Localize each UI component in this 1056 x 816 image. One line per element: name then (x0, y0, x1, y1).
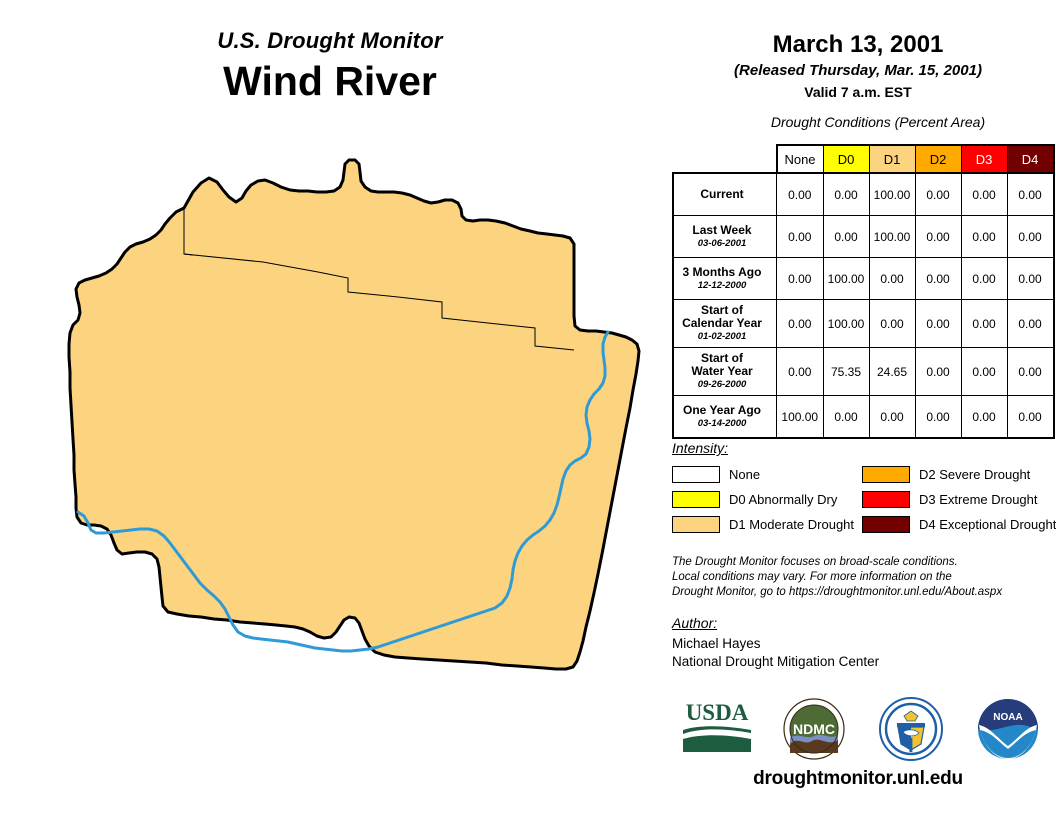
table-cell-d1: 100.00 (869, 216, 915, 258)
legend-grid: NoneD2 Severe DroughtD0 Abnormally DryD3… (672, 462, 1056, 537)
table-cell-d3: 0.00 (961, 173, 1007, 216)
table-col-header-d0: D0 (823, 145, 869, 173)
table-cell-d2: 0.00 (915, 348, 961, 396)
map-title-block: U.S. Drought Monitor Wind River (0, 28, 660, 106)
table-cell-d2: 0.00 (915, 216, 961, 258)
table-cell-d1: 0.00 (869, 258, 915, 300)
disclaimer-text: The Drought Monitor focuses on broad-sca… (672, 555, 1052, 600)
legend-item: D4 Exceptional Drought (862, 512, 1056, 537)
row-title-line: One Year Ago (674, 404, 770, 417)
row-title-line: Current (674, 188, 770, 201)
page-title: Wind River (0, 56, 660, 106)
usda-logo[interactable]: USDA (677, 694, 757, 764)
legend-swatch (672, 491, 720, 508)
info-panel: March 13, 2001 (Released Thursday, Mar. … (660, 0, 1056, 816)
table-row: 3 Months Ago12-12-20000.00100.000.000.00… (673, 258, 1054, 300)
row-date: 03-14-2000 (674, 417, 770, 430)
row-title-line: Water Year (674, 365, 770, 378)
legend-swatch (862, 491, 910, 508)
table-cell-none: 0.00 (777, 258, 824, 300)
row-title-line: 3 Months Ago (674, 266, 770, 279)
drought-conditions-table: NoneD0D1D2D3D4 Current0.000.00100.000.00… (672, 144, 1055, 439)
table-cell-d1: 24.65 (869, 348, 915, 396)
table-col-header-d1: D1 (869, 145, 915, 173)
table-cell-d1: 0.00 (869, 396, 915, 439)
table-cell-d0: 100.00 (823, 258, 869, 300)
table-col-header-d4: D4 (1007, 145, 1054, 173)
row-label: Last Week03-06-2001 (673, 216, 777, 258)
table-corner-cell (673, 145, 777, 173)
author-affiliation: National Drought Mitigation Center (672, 653, 1052, 671)
table-body: Current0.000.00100.000.000.000.00Last We… (673, 173, 1054, 438)
logo-row: USDA NDMC (668, 694, 1056, 764)
row-label: 3 Months Ago12-12-2000 (673, 258, 777, 300)
table-cell-d3: 0.00 (961, 216, 1007, 258)
row-date: 01-02-2001 (674, 330, 770, 343)
legend-label: D0 Abnormally Dry (729, 492, 837, 507)
disclaimer-line-1: The Drought Monitor focuses on broad-sca… (672, 555, 1052, 570)
author-section: Author: Michael Hayes National Drought M… (672, 615, 1052, 671)
author-heading: Author: (672, 615, 1052, 631)
drought-map[interactable] (18, 150, 658, 770)
date-block: March 13, 2001 (Released Thursday, Mar. … (660, 0, 1056, 102)
author-name: Michael Hayes (672, 635, 1052, 653)
svg-text:NDMC: NDMC (793, 721, 835, 737)
table-cell-d0: 0.00 (823, 216, 869, 258)
legend-label: None (729, 467, 760, 482)
table-cell-none: 0.00 (777, 348, 824, 396)
legend-item: None (672, 462, 862, 487)
table-row: Start ofWater Year09-26-20000.0075.3524.… (673, 348, 1054, 396)
legend-item: D0 Abnormally Dry (672, 487, 862, 512)
legend-swatch (672, 466, 720, 483)
table-cell-d4: 0.00 (1007, 258, 1054, 300)
disclaimer-line-2: Local conditions may vary. For more info… (672, 570, 1052, 585)
issue-date: March 13, 2001 (660, 31, 1056, 59)
table-cell-d2: 0.00 (915, 173, 961, 216)
row-title-line: Calendar Year (674, 317, 770, 330)
table-caption: Drought Conditions (Percent Area) (700, 114, 1056, 130)
map-region-polygon (69, 160, 639, 669)
table-cell-none: 0.00 (777, 173, 824, 216)
table-row: Current0.000.00100.000.000.000.00 (673, 173, 1054, 216)
legend-item: D2 Severe Drought (862, 462, 1056, 487)
legend-swatch (672, 516, 720, 533)
table-cell-d2: 0.00 (915, 300, 961, 348)
table-cell-none: 0.00 (777, 300, 824, 348)
table-cell-d4: 0.00 (1007, 216, 1054, 258)
table-cell-none: 0.00 (777, 216, 824, 258)
legend-item: D3 Extreme Drought (862, 487, 1056, 512)
drought-monitor-supertitle: U.S. Drought Monitor (0, 28, 660, 54)
legend-label: D3 Extreme Drought (919, 492, 1038, 507)
table-cell-d4: 0.00 (1007, 173, 1054, 216)
table-header-row: NoneD0D1D2D3D4 (673, 145, 1054, 173)
legend-swatch (862, 466, 910, 483)
noaa-logo[interactable]: NOAA (968, 694, 1048, 764)
table-cell-none: 100.00 (777, 396, 824, 439)
row-date: 09-26-2000 (674, 378, 770, 391)
table-cell-d0: 0.00 (823, 173, 869, 216)
ndmc-logo[interactable]: NDMC (774, 694, 854, 764)
table-cell-d3: 0.00 (961, 300, 1007, 348)
row-date: 03-06-2001 (674, 237, 770, 250)
table-cell-d1: 0.00 (869, 300, 915, 348)
table-cell-d0: 100.00 (823, 300, 869, 348)
table-cell-d3: 0.00 (961, 348, 1007, 396)
legend-label: D1 Moderate Drought (729, 517, 854, 532)
legend-label: D2 Severe Drought (919, 467, 1030, 482)
valid-time: Valid 7 a.m. EST (660, 83, 1056, 102)
table-cell-d3: 0.00 (961, 258, 1007, 300)
table-row: Last Week03-06-20010.000.00100.000.000.0… (673, 216, 1054, 258)
svg-text:NOAA: NOAA (993, 712, 1022, 723)
table-cell-d3: 0.00 (961, 396, 1007, 439)
table-cell-d4: 0.00 (1007, 300, 1054, 348)
row-label: Current (673, 173, 777, 216)
release-date: (Released Thursday, Mar. 15, 2001) (660, 61, 1056, 81)
table-col-header-none: None (777, 145, 824, 173)
row-title-line: Last Week (674, 224, 770, 237)
row-label: One Year Ago03-14-2000 (673, 396, 777, 439)
table-cell-d4: 0.00 (1007, 348, 1054, 396)
intensity-legend: Intensity: NoneD2 Severe DroughtD0 Abnor… (672, 440, 1056, 537)
table-cell-d0: 75.35 (823, 348, 869, 396)
site-url[interactable]: droughtmonitor.unl.edu (660, 768, 1056, 790)
row-label: Start ofCalendar Year01-02-2001 (673, 300, 777, 348)
svg-text:USDA: USDA (685, 700, 748, 725)
commerce-seal-logo[interactable] (871, 694, 951, 764)
row-date: 12-12-2000 (674, 279, 770, 292)
table-col-header-d3: D3 (961, 145, 1007, 173)
table-cell-d1: 100.00 (869, 173, 915, 216)
intensity-heading: Intensity: (672, 440, 1056, 456)
table-cell-d4: 0.00 (1007, 396, 1054, 439)
legend-label: D4 Exceptional Drought (919, 517, 1056, 532)
disclaimer-line-3: Drought Monitor, go to https://droughtmo… (672, 585, 1052, 600)
table-row: One Year Ago03-14-2000100.000.000.000.00… (673, 396, 1054, 439)
table-cell-d0: 0.00 (823, 396, 869, 439)
table-cell-d2: 0.00 (915, 258, 961, 300)
legend-item: D1 Moderate Drought (672, 512, 862, 537)
legend-swatch (862, 516, 910, 533)
table-col-header-d2: D2 (915, 145, 961, 173)
row-label: Start ofWater Year09-26-2000 (673, 348, 777, 396)
table-row: Start ofCalendar Year01-02-20010.00100.0… (673, 300, 1054, 348)
table-cell-d2: 0.00 (915, 396, 961, 439)
